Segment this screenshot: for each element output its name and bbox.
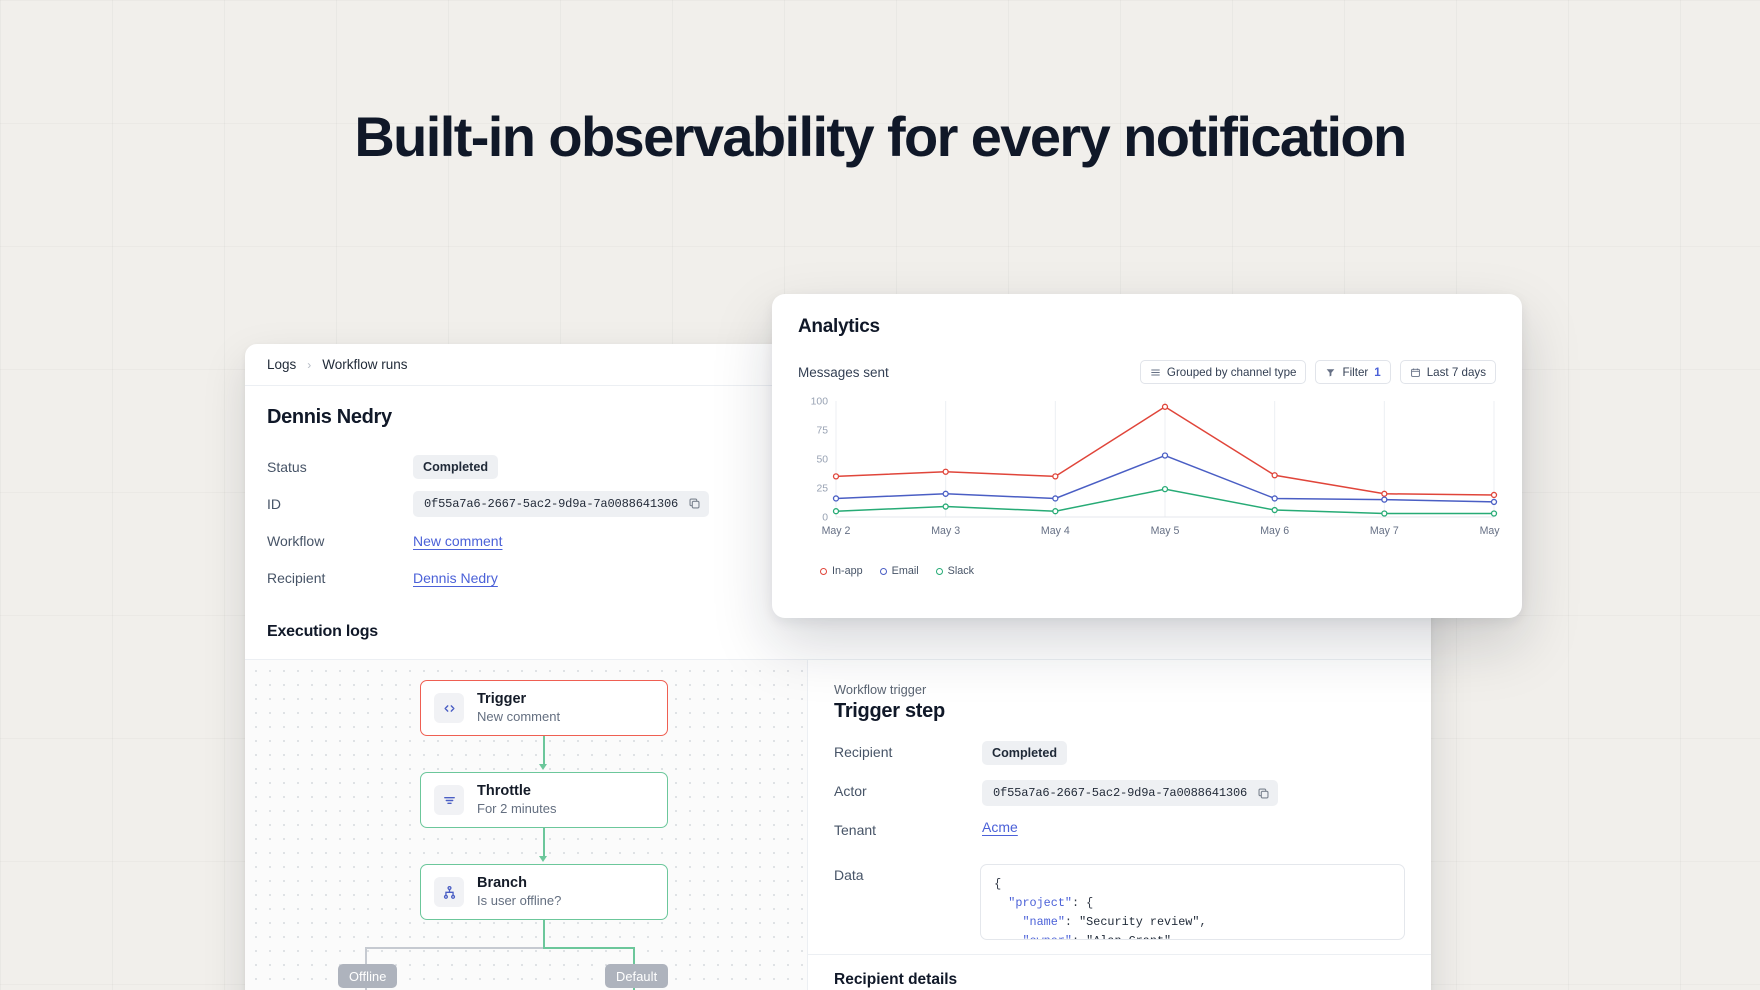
breadcrumb-logs[interactable]: Logs: [267, 357, 296, 372]
flow-connector-default: [543, 947, 635, 949]
step-eyebrow: Workflow trigger: [834, 682, 1405, 697]
field-label: Actor: [834, 780, 982, 799]
chevron-right-icon: ›: [307, 358, 311, 372]
legend-item-email[interactable]: Email: [880, 565, 919, 577]
legend-item-slack[interactable]: Slack: [936, 565, 974, 577]
copy-icon[interactable]: [688, 497, 701, 510]
execution-logs-split: Trigger New comment Throttle For 2 minut…: [245, 659, 1431, 990]
section-title-execution-logs: Execution logs: [267, 623, 1409, 641]
svg-text:May 3: May 3: [931, 525, 960, 537]
field-label: Workflow: [267, 533, 413, 549]
group-by-label: Grouped by channel type: [1167, 366, 1297, 379]
status-badge: Completed: [982, 741, 1067, 765]
legend-label: Email: [892, 565, 919, 577]
flow-node-title: Throttle: [477, 783, 531, 799]
messages-sent-line-chart: 0255075100May 2May 3May 4May 5May 6May 7…: [800, 393, 1500, 543]
recipient-link[interactable]: Dennis Nedry: [413, 570, 498, 586]
status-badge: Completed: [413, 455, 498, 479]
legend-dot-icon: [880, 568, 887, 575]
field-label: Tenant: [834, 819, 982, 838]
date-range-button[interactable]: Last 7 days: [1400, 360, 1496, 384]
legend-dot-icon: [936, 568, 943, 575]
chart-legend: In-appEmailSlack: [820, 565, 1496, 577]
section-title-recipient-details: Recipient details: [834, 971, 1405, 989]
flow-arrow-icon: [539, 856, 547, 862]
svg-text:May 2: May 2: [822, 525, 851, 537]
branch-label-default[interactable]: Default: [605, 964, 668, 988]
field-label: Recipient: [267, 570, 413, 586]
filter-label: Filter: [1342, 366, 1368, 379]
step-field-actor: Actor 0f55a7a6-2667-5ac2-9d9a-7a00886413…: [834, 780, 1405, 819]
id-value-chip[interactable]: 0f55a7a6-2667-5ac2-9d9a-7a0088641306: [413, 491, 709, 517]
flow-node-title: Branch: [477, 875, 527, 891]
svg-text:May 6: May 6: [1260, 525, 1289, 537]
legend-dot-icon: [820, 568, 827, 575]
chart-plot-area[interactable]: 0255075100May 2May 3May 4May 5May 6May 7…: [800, 393, 1496, 543]
legend-label: Slack: [948, 565, 974, 577]
breadcrumb-workflow-runs[interactable]: Workflow runs: [322, 357, 407, 372]
code-brackets-icon: [434, 693, 464, 723]
flow-node-subtitle: For 2 minutes: [477, 801, 556, 816]
chart-controls: Grouped by channel type Filter 1: [1140, 360, 1496, 384]
filter-lines-icon: [434, 785, 464, 815]
flow-node-title: Trigger: [477, 691, 526, 707]
step-field-tenant: Tenant Acme: [834, 819, 1405, 858]
chart-subtitle: Messages sent: [798, 365, 889, 380]
filter-count: 1: [1374, 366, 1380, 379]
analytics-title: Analytics: [798, 316, 1496, 338]
step-title: Trigger step: [834, 700, 1405, 723]
svg-text:May 7: May 7: [1370, 525, 1399, 537]
workflow-link[interactable]: New comment: [413, 533, 502, 549]
actor-value-chip[interactable]: 0f55a7a6-2667-5ac2-9d9a-7a0088641306: [982, 780, 1278, 806]
list-icon: [1150, 367, 1161, 378]
svg-text:75: 75: [816, 426, 828, 437]
flow-connector: [543, 828, 545, 858]
svg-text:May 4: May 4: [1041, 525, 1070, 537]
svg-text:25: 25: [816, 484, 828, 495]
id-value: 0f55a7a6-2667-5ac2-9d9a-7a0088641306: [424, 497, 678, 511]
flow-node-subtitle: New comment: [477, 709, 560, 724]
flow-arrow-icon: [539, 764, 547, 770]
actor-value: 0f55a7a6-2667-5ac2-9d9a-7a0088641306: [993, 786, 1247, 800]
flow-connector: [543, 736, 545, 766]
flow-connector-offline: [365, 947, 545, 949]
branch-icon: [434, 877, 464, 907]
step-field-data: Data { "project": { "name": "Security re…: [834, 864, 1405, 940]
analytics-card: Analytics Messages sent Grouped by chann…: [772, 294, 1522, 618]
flow-node-trigger[interactable]: Trigger New comment: [420, 680, 668, 736]
funnel-icon: [1325, 367, 1336, 378]
svg-text:100: 100: [811, 397, 829, 408]
field-label: Data: [834, 864, 980, 883]
divider: [808, 954, 1431, 955]
svg-text:0: 0: [822, 513, 828, 524]
date-range-label: Last 7 days: [1427, 366, 1486, 379]
flow-node-branch[interactable]: Branch Is user offline?: [420, 864, 668, 920]
field-label: ID: [267, 496, 413, 512]
filter-button[interactable]: Filter 1: [1315, 360, 1390, 384]
legend-label: In-app: [832, 565, 863, 577]
workflow-flow-canvas[interactable]: Trigger New comment Throttle For 2 minut…: [245, 660, 807, 990]
svg-text:May 8: May 8: [1480, 525, 1500, 537]
step-detail-panel: Workflow trigger Trigger step Recipient …: [807, 660, 1431, 990]
page-root: Built-in observability for every notific…: [0, 0, 1760, 990]
calendar-icon: [1410, 367, 1421, 378]
page-headline: Built-in observability for every notific…: [0, 104, 1760, 169]
copy-icon[interactable]: [1257, 787, 1270, 800]
flow-node-throttle[interactable]: Throttle For 2 minutes: [420, 772, 668, 828]
field-label: Recipient: [834, 741, 982, 760]
data-code-block[interactable]: { "project": { "name": "Security review"…: [980, 864, 1405, 940]
flow-node-text: Throttle For 2 minutes: [477, 782, 556, 818]
step-field-recipient: Recipient Completed: [834, 741, 1405, 780]
legend-item-in-app[interactable]: In-app: [820, 565, 863, 577]
flow-node-text: Trigger New comment: [477, 690, 560, 726]
tenant-link[interactable]: Acme: [982, 819, 1018, 835]
svg-text:50: 50: [816, 455, 828, 466]
chart-header: Messages sent Grouped by channel type: [798, 360, 1496, 384]
branch-label-offline[interactable]: Offline: [338, 964, 397, 988]
group-by-button[interactable]: Grouped by channel type: [1140, 360, 1307, 384]
flow-connector: [543, 920, 545, 948]
flow-node-subtitle: Is user offline?: [477, 893, 561, 908]
field-label: Status: [267, 459, 413, 475]
flow-node-text: Branch Is user offline?: [477, 874, 561, 910]
svg-text:May 5: May 5: [1151, 525, 1180, 537]
